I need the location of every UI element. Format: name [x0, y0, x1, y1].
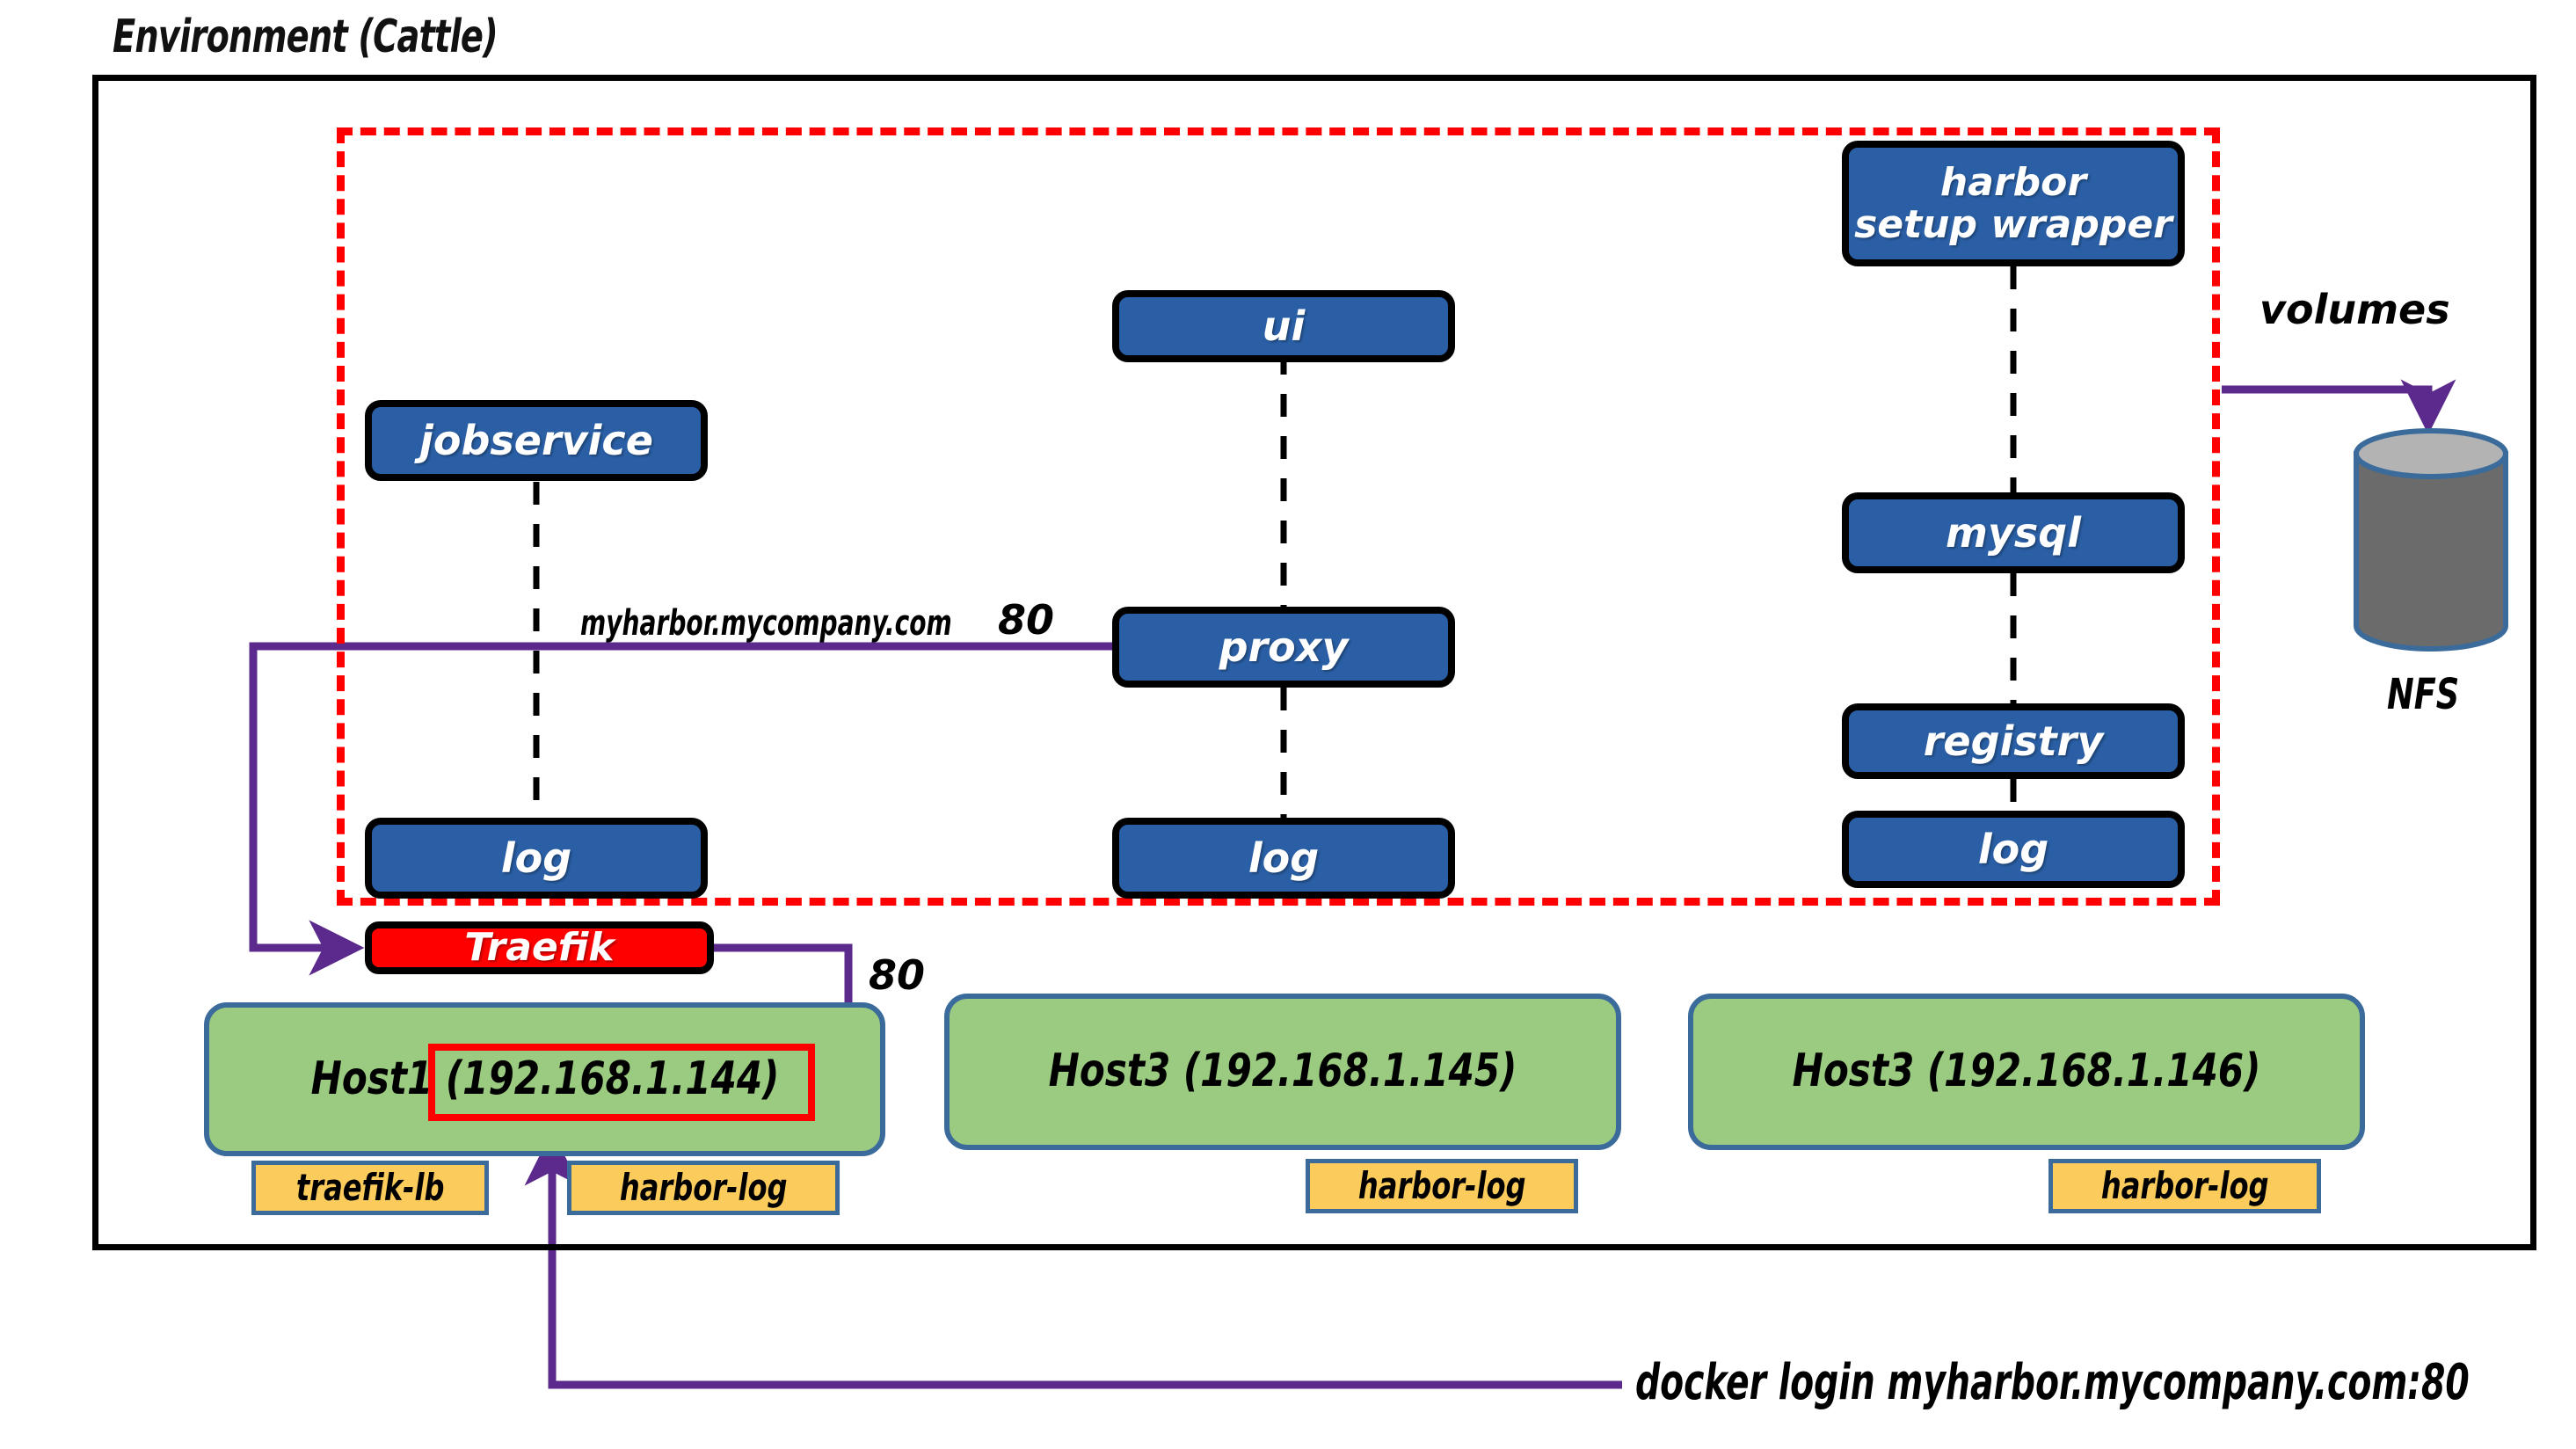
- nfs-storage-icon: [2339, 422, 2523, 659]
- host-box-2[interactable]: Host3 (192.168.1.145): [944, 994, 1621, 1150]
- port-label-proxy: 80: [998, 596, 1054, 644]
- service-box-log-left[interactable]: log: [365, 818, 708, 899]
- service-box-log-middle[interactable]: log: [1112, 818, 1455, 899]
- service-box-jobservice[interactable]: jobservice: [365, 400, 708, 481]
- service-box-mysql[interactable]: mysql: [1842, 492, 2185, 573]
- service-label-log-left: log: [501, 838, 571, 879]
- service-label-log-middle: log: [1248, 838, 1319, 879]
- service-label-harbor: harbor: [1940, 162, 2086, 204]
- service-label-proxy: proxy: [1219, 627, 1349, 668]
- service-label-ui: ui: [1263, 306, 1306, 347]
- docker-login-command: docker login myharbor.mycompany.com:80: [1635, 1354, 2470, 1411]
- host3-tag-harbor-log[interactable]: harbor-log: [2048, 1159, 2321, 1213]
- host2-tag-harbor-log-label: harbor-log: [1358, 1168, 1526, 1205]
- host1-tag-traefik-lb-label: traefik-lb: [296, 1169, 445, 1207]
- host3-tag-harbor-log-label: harbor-log: [2101, 1168, 2269, 1205]
- service-box-proxy[interactable]: proxy: [1112, 607, 1455, 688]
- host1-ip-highlight: [428, 1044, 815, 1121]
- volumes-link-label: volumes: [2259, 286, 2450, 333]
- service-box-harbor-setup-wrapper[interactable]: harbor setup wrapper: [1842, 141, 2185, 266]
- service-box-log-right[interactable]: log: [1842, 811, 2185, 888]
- page-title: Environment (Cattle): [113, 11, 498, 63]
- host2-tag-harbor-log[interactable]: harbor-log: [1306, 1159, 1578, 1213]
- host1-tag-harbor-log-label: harbor-log: [620, 1169, 788, 1207]
- nfs-label: NFS: [2387, 670, 2459, 719]
- host-label-3: Host3 (192.168.1.146): [1793, 1048, 2261, 1095]
- diagram-canvas: Environment (Cattle) jobservice log ui p…: [0, 0, 2576, 1449]
- service-box-registry[interactable]: registry: [1842, 703, 2185, 779]
- traefik-loadbalancer-box[interactable]: Traefik: [365, 921, 714, 974]
- service-label-registry: registry: [1924, 721, 2104, 762]
- port-label-traefik: 80: [869, 951, 925, 999]
- host-box-3[interactable]: Host3 (192.168.1.146): [1688, 994, 2365, 1150]
- service-label-mysql: mysql: [1946, 513, 2081, 554]
- host1-tag-harbor-log[interactable]: harbor-log: [567, 1161, 840, 1215]
- service-label-jobservice: jobservice: [419, 420, 653, 462]
- host-label-2: Host3 (192.168.1.145): [1049, 1048, 1517, 1095]
- service-label-setup-wrapper: setup wrapper: [1854, 204, 2172, 246]
- service-label-log-right: log: [1978, 829, 2048, 870]
- hostname-annotation: myharbor.mycompany.com: [580, 603, 952, 644]
- service-box-ui[interactable]: ui: [1112, 290, 1455, 362]
- traefik-label: Traefik: [464, 928, 614, 968]
- host1-tag-traefik-lb[interactable]: traefik-lb: [251, 1161, 489, 1215]
